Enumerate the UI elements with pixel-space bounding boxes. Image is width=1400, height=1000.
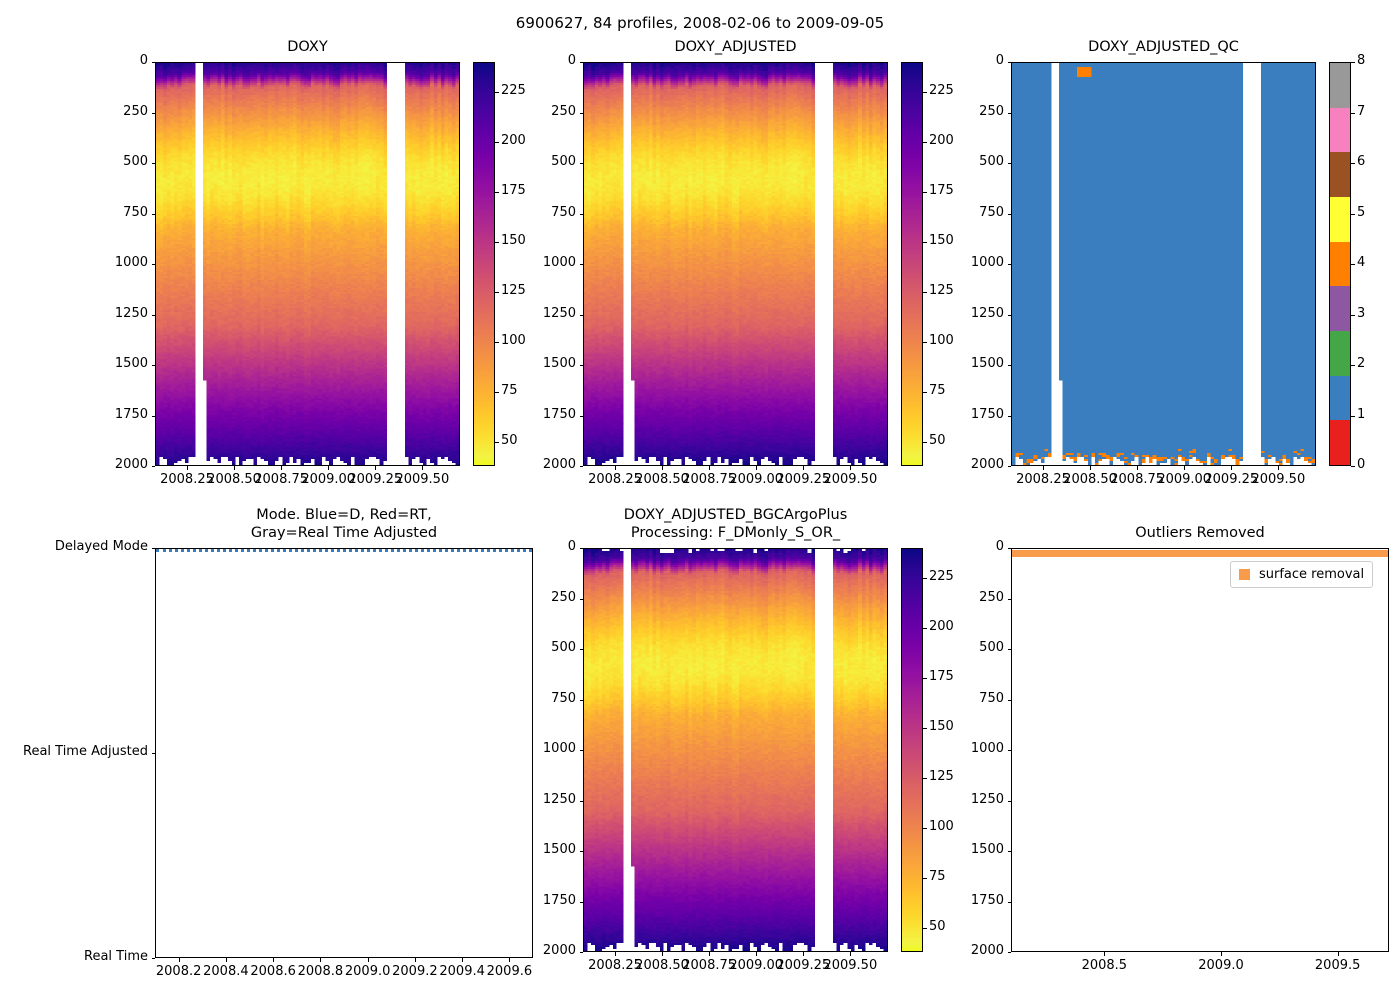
colorbar-doxy_adjusted-tick-label: 50 xyxy=(929,433,946,448)
ytick-doxy_adjusted-label: 750 xyxy=(433,205,576,220)
colorbar-doxy-tick-mark xyxy=(495,292,499,293)
ytick-mode-label: Delayed Mode xyxy=(5,539,148,554)
xtick-bgc-label: 2009.50 xyxy=(810,958,890,973)
figure-canvas: 6900627, 84 profiles, 2008-02-06 to 2009… xyxy=(0,0,1400,1000)
qc-colorbar-band-2 xyxy=(1330,331,1350,376)
ytick-bgc-mark xyxy=(580,649,584,650)
heatmap-doxy_adjusted_qc xyxy=(1012,63,1315,465)
qc-colorbar-band-0 xyxy=(1330,420,1350,465)
ytick-bgc-mark xyxy=(580,700,584,701)
xtick-mode-mark xyxy=(273,958,274,962)
colorbar-doxy-adjusted-bgcargoplus-tick-mark xyxy=(923,628,927,629)
colorbar-doxy-tick-mark xyxy=(495,242,499,243)
colorbar-doxy_adjusted_qc-tick-label: 2 xyxy=(1357,356,1365,371)
colorbar-doxy_adjusted-tick-label: 150 xyxy=(929,233,954,248)
ytick-bgc-mark xyxy=(580,750,584,751)
ytick-doxy_adjusted-label: 0 xyxy=(433,53,576,68)
xtick-doxy_adjusted-mark xyxy=(756,466,757,470)
xtick-outliers-mark xyxy=(1221,952,1222,956)
ytick-outliers-label: 750 xyxy=(861,691,1004,706)
colorbar-doxy-adjusted-bgcargoplus-tick-mark xyxy=(923,678,927,679)
ytick-outliers-label: 0 xyxy=(861,539,1004,554)
colorbar-doxy-adjusted-bgcargoplus-tick-label: 200 xyxy=(929,619,954,634)
axes-doxy-adjusted-bgcargoplus xyxy=(583,548,888,952)
colorbar-doxy-adjusted-bgcargoplus-tick-label: 175 xyxy=(929,669,954,684)
ytick-doxy_adjusted-label: 1750 xyxy=(433,407,576,422)
ytick-doxy_adjusted_qc-mark xyxy=(1008,365,1012,366)
colorbar-doxy_adjusted-tick-mark xyxy=(923,342,927,343)
colorbar-doxy-adjusted-bgcargoplus-tick-label: 225 xyxy=(929,569,954,584)
xtick-mode-label: 2009.6 xyxy=(469,964,549,979)
xtick-doxy_adjusted-mark xyxy=(615,466,616,470)
qc-colorbar-band-8 xyxy=(1330,63,1350,108)
mode-delayed-line xyxy=(156,549,532,552)
ytick-bgc-mark xyxy=(580,902,584,903)
xtick-doxy-mark xyxy=(234,466,235,470)
axes-outliers-removed xyxy=(1011,548,1389,952)
ytick-doxy-label: 1500 xyxy=(5,356,148,371)
xtick-doxy_adjusted_qc-mark xyxy=(1043,466,1044,470)
xtick-mode-mark xyxy=(320,958,321,962)
colorbar-doxy-adjusted-bgcargoplus-tick-mark xyxy=(923,778,927,779)
ytick-doxy_adjusted_qc-label: 0 xyxy=(861,53,1004,68)
colorbar-doxy-adjusted-bgcargoplus-tick-label: 50 xyxy=(929,919,946,934)
ytick-outliers-mark xyxy=(1008,902,1012,903)
xtick-mode-mark xyxy=(415,958,416,962)
colorbar-doxy_adjusted-tick-label: 100 xyxy=(929,333,954,348)
ytick-doxy_adjusted-mark xyxy=(580,163,584,164)
ytick-mode-label: Real Time xyxy=(5,949,148,964)
colorbar-doxy-tick-label: 200 xyxy=(501,133,526,148)
ytick-doxy-mark xyxy=(152,315,156,316)
xtick-bgc-mark xyxy=(803,952,804,956)
colorbar-doxy-tick-label: 175 xyxy=(501,183,526,198)
ytick-outliers-mark xyxy=(1008,952,1012,953)
ytick-doxy-label: 0 xyxy=(5,53,148,68)
ytick-doxy-mark xyxy=(152,264,156,265)
ytick-outliers-label: 500 xyxy=(861,640,1004,655)
ytick-outliers-label: 250 xyxy=(861,590,1004,605)
colorbar-doxy-tick-label: 100 xyxy=(501,333,526,348)
legend-outliers-removed[interactable]: surface removal xyxy=(1230,561,1373,588)
ytick-doxy_adjusted_qc-mark xyxy=(1008,163,1012,164)
xtick-bgc-mark xyxy=(662,952,663,956)
xtick-doxy_adjusted_qc-mark xyxy=(1278,466,1279,470)
xtick-doxy-label: 2009.50 xyxy=(382,472,462,487)
colorbar-doxy-tick-label: 75 xyxy=(501,383,518,398)
ytick-doxy_adjusted-mark xyxy=(580,365,584,366)
colorbar-doxy-tick-mark xyxy=(495,342,499,343)
ytick-outliers-mark xyxy=(1008,700,1012,701)
ytick-doxy_adjusted_qc-mark xyxy=(1008,113,1012,114)
ytick-doxy_adjusted_qc-label: 1000 xyxy=(861,255,1004,270)
ytick-doxy_adjusted-mark xyxy=(580,416,584,417)
colorbar-doxy_adjusted-tick-mark xyxy=(923,142,927,143)
ytick-outliers-mark xyxy=(1008,548,1012,549)
colorbar-doxy_adjusted_qc-tick-label: 7 xyxy=(1357,104,1365,119)
xtick-doxy_adjusted_qc-mark xyxy=(1137,466,1138,470)
xtick-doxy-mark xyxy=(281,466,282,470)
ytick-outliers-mark xyxy=(1008,649,1012,650)
ytick-doxy_adjusted-mark xyxy=(580,315,584,316)
colorbar-doxy-tick-label: 225 xyxy=(501,83,526,98)
axes-doxy_adjusted_qc xyxy=(1011,62,1316,466)
ytick-doxy_adjusted_qc-mark xyxy=(1008,315,1012,316)
colorbar-doxy_adjusted_qc-tick-mark xyxy=(1351,62,1355,63)
qc-colorbar-band-5 xyxy=(1330,197,1350,242)
colorbar-doxy_adjusted_qc-tick-mark xyxy=(1351,466,1355,467)
ytick-doxy-label: 1250 xyxy=(5,306,148,321)
colorbar-doxy-tick-mark xyxy=(495,142,499,143)
colorbar-doxy-tick-mark xyxy=(495,442,499,443)
colorbar-doxy_adjusted-tick-mark xyxy=(923,392,927,393)
ytick-mode-mark xyxy=(152,753,156,754)
xtick-doxy_adjusted_qc-mark xyxy=(1184,466,1185,470)
ytick-doxy_adjusted-label: 2000 xyxy=(433,457,576,472)
ytick-doxy-label: 1000 xyxy=(5,255,148,270)
title-outliers-removed: Outliers Removed xyxy=(960,524,1400,542)
colorbar-doxy_adjusted_qc-tick-label: 4 xyxy=(1357,255,1365,270)
figure-suptitle: 6900627, 84 profiles, 2008-02-06 to 2009… xyxy=(0,14,1400,32)
ytick-doxy-label: 250 xyxy=(5,104,148,119)
xtick-doxy-mark xyxy=(375,466,376,470)
ytick-doxy_adjusted-label: 1500 xyxy=(433,356,576,371)
legend-label-surface-removal: surface removal xyxy=(1259,567,1364,582)
colorbar-doxy-adjusted-bgcargoplus-tick-label: 150 xyxy=(929,719,954,734)
xtick-outliers-label: 2009.0 xyxy=(1181,958,1261,973)
ytick-doxy_adjusted_qc-label: 1250 xyxy=(861,306,1004,321)
xtick-mode-mark xyxy=(179,958,180,962)
colorbar-doxy_adjusted-tick-mark xyxy=(923,92,927,93)
colorbar-doxy-adjusted-bgcargoplus-tick-label: 100 xyxy=(929,819,954,834)
ytick-doxy_adjusted-label: 250 xyxy=(433,104,576,119)
axes-doxy xyxy=(155,62,460,466)
axes-doxy_adjusted xyxy=(583,62,888,466)
xtick-doxy-mark xyxy=(422,466,423,470)
ytick-doxy_adjusted_qc-label: 1500 xyxy=(861,356,1004,371)
colorbar-doxy-adjusted-bgcargoplus-tick-mark xyxy=(923,728,927,729)
colorbar-doxy-adjusted-bgcargoplus-tick-mark xyxy=(923,578,927,579)
colorbar-doxy_adjusted_qc-tick-label: 0 xyxy=(1357,457,1365,472)
colorbar-doxy-adjusted-bgcargoplus-tick-label: 75 xyxy=(929,869,946,884)
ytick-doxy-label: 500 xyxy=(5,154,148,169)
ytick-doxy_adjusted_qc-mark xyxy=(1008,264,1012,265)
ytick-outliers-label: 1250 xyxy=(861,792,1004,807)
ytick-doxy_adjusted_qc-label: 500 xyxy=(861,154,1004,169)
colorbar-doxy_adjusted_qc-tick-mark xyxy=(1351,264,1355,265)
xtick-doxy_adjusted_qc-mark xyxy=(1231,466,1232,470)
ytick-mode-label: Real Time Adjusted xyxy=(5,744,148,759)
colorbar-doxy_adjusted-tick-mark xyxy=(923,442,927,443)
colorbar-doxy_adjusted-tick-label: 75 xyxy=(929,383,946,398)
xtick-doxy-mark xyxy=(187,466,188,470)
xtick-doxy_adjusted-mark xyxy=(709,466,710,470)
xtick-doxy-mark xyxy=(328,466,329,470)
axes-mode xyxy=(155,548,533,958)
colorbar-doxy-tick-label: 125 xyxy=(501,283,526,298)
colorbar-doxy-tick-label: 50 xyxy=(501,433,518,448)
ytick-doxy_adjusted-label: 1000 xyxy=(433,255,576,270)
xtick-outliers-mark xyxy=(1104,952,1105,956)
ytick-doxy_adjusted-label: 500 xyxy=(433,154,576,169)
ytick-doxy-mark xyxy=(152,163,156,164)
colorbar-doxy_adjusted_qc-tick-label: 8 xyxy=(1357,53,1365,68)
xtick-mode-mark xyxy=(462,958,463,962)
ytick-doxy-mark xyxy=(152,416,156,417)
colorbar-doxy_adjusted_qc-tick-label: 5 xyxy=(1357,205,1365,220)
ytick-doxy-mark xyxy=(152,62,156,63)
heatmap-doxy_adjusted xyxy=(584,63,887,465)
qc-colorbar-band-1 xyxy=(1330,376,1350,421)
colorbar-doxy-adjusted-bgcargoplus-tick-mark xyxy=(923,928,927,929)
qc-colorbar-band-4 xyxy=(1330,242,1350,287)
surface-removal-band xyxy=(1012,550,1388,557)
colorbar-doxy-tick-mark xyxy=(495,92,499,93)
ytick-doxy_adjusted-mark xyxy=(580,264,584,265)
title-line-1: Mode. Blue=D, Red=RT, xyxy=(104,506,584,524)
colorbar-doxy_adjusted_qc-tick-label: 3 xyxy=(1357,306,1365,321)
ytick-outliers-mark xyxy=(1008,801,1012,802)
colorbar-doxy-tick-mark xyxy=(495,192,499,193)
colorbar-doxy_adjusted-tick-label: 125 xyxy=(929,283,954,298)
ytick-doxy_adjusted-mark xyxy=(580,113,584,114)
ytick-bgc-mark xyxy=(580,548,584,549)
ytick-doxy-label: 750 xyxy=(5,205,148,220)
colorbar-doxy_adjusted-tick-label: 225 xyxy=(929,83,954,98)
ytick-doxy-label: 1750 xyxy=(5,407,148,422)
xtick-outliers-label: 2008.5 xyxy=(1064,958,1144,973)
colorbar-doxy-adjusted-bgcargoplus-tick-mark xyxy=(923,878,927,879)
ytick-doxy-mark xyxy=(152,466,156,467)
xtick-mode-mark xyxy=(509,958,510,962)
legend-swatch-surface-removal xyxy=(1239,569,1250,580)
ytick-doxy_adjusted_qc-label: 2000 xyxy=(861,457,1004,472)
heatmap-doxy-adjusted-bgcargoplus xyxy=(584,549,887,951)
xtick-outliers-label: 2009.5 xyxy=(1298,958,1378,973)
xtick-mode-mark xyxy=(226,958,227,962)
ytick-outliers-mark xyxy=(1008,851,1012,852)
xtick-doxy_adjusted-mark xyxy=(803,466,804,470)
ytick-bgc-mark xyxy=(580,801,584,802)
ytick-doxy_adjusted_qc-label: 250 xyxy=(861,104,1004,119)
colorbar-doxy_adjusted-tick-mark xyxy=(923,292,927,293)
colorbar-doxy_adjusted_qc-tick-mark xyxy=(1351,113,1355,114)
title-line-2: Gray=Real Time Adjusted xyxy=(104,524,584,542)
ytick-mode-mark xyxy=(152,958,156,959)
colorbar-doxy-adjusted-bgcargoplus-tick-mark xyxy=(923,828,927,829)
qc-colorbar-band-7 xyxy=(1330,108,1350,153)
colorbar-doxy_adjusted_qc-tick-mark xyxy=(1351,214,1355,215)
qc-colorbar-band-6 xyxy=(1330,152,1350,197)
colorbar-doxy_adjusted_qc-tick-mark xyxy=(1351,315,1355,316)
ytick-outliers-label: 1750 xyxy=(861,893,1004,908)
xtick-outliers-mark xyxy=(1338,952,1339,956)
ytick-mode-mark xyxy=(152,548,156,549)
ytick-doxy_adjusted_qc-mark xyxy=(1008,214,1012,215)
colorbar-doxy_adjusted_qc-tick-label: 6 xyxy=(1357,154,1365,169)
ytick-doxy_adjusted_qc-mark xyxy=(1008,62,1012,63)
colorbar-doxy-tick-mark xyxy=(495,392,499,393)
colorbar-doxy_adjusted_qc[interactable] xyxy=(1329,62,1351,466)
colorbar-doxy_adjusted_qc-tick-mark xyxy=(1351,416,1355,417)
xtick-doxy_adjusted_qc-mark xyxy=(1090,466,1091,470)
xtick-doxy_adjusted-mark xyxy=(850,466,851,470)
ytick-outliers-mark xyxy=(1008,599,1012,600)
colorbar-doxy_adjusted-tick-label: 200 xyxy=(929,133,954,148)
ytick-outliers-mark xyxy=(1008,750,1012,751)
xtick-bgc-mark xyxy=(850,952,851,956)
ytick-doxy-mark xyxy=(152,113,156,114)
ytick-doxy_adjusted-mark xyxy=(580,214,584,215)
colorbar-doxy_adjusted_qc-tick-label: 1 xyxy=(1357,407,1365,422)
colorbar-doxy-adjusted-bgcargoplus-tick-label: 125 xyxy=(929,769,954,784)
ytick-outliers-label: 1500 xyxy=(861,842,1004,857)
ytick-doxy_adjusted-label: 1250 xyxy=(433,306,576,321)
colorbar-doxy_adjusted-tick-mark xyxy=(923,242,927,243)
colorbar-doxy_adjusted_qc-tick-mark xyxy=(1351,163,1355,164)
ytick-doxy_adjusted_qc-mark xyxy=(1008,416,1012,417)
ytick-bgc-mark xyxy=(580,599,584,600)
colorbar-doxy_adjusted_qc-tick-mark xyxy=(1351,365,1355,366)
ytick-outliers-label: 1000 xyxy=(861,741,1004,756)
colorbar-doxy_adjusted-tick-mark xyxy=(923,192,927,193)
ytick-bgc-mark xyxy=(580,952,584,953)
xtick-bgc-mark xyxy=(615,952,616,956)
ytick-doxy_adjusted-mark xyxy=(580,62,584,63)
ytick-doxy_adjusted_qc-label: 750 xyxy=(861,205,1004,220)
title-mode: Mode. Blue=D, Red=RT,Gray=Real Time Adju… xyxy=(104,506,584,542)
xtick-doxy_adjusted_qc-label: 2009.50 xyxy=(1238,472,1318,487)
ytick-doxy-mark xyxy=(152,365,156,366)
colorbar-doxy-tick-label: 150 xyxy=(501,233,526,248)
xtick-doxy_adjusted-mark xyxy=(662,466,663,470)
xtick-doxy_adjusted-label: 2009.50 xyxy=(810,472,890,487)
ytick-outliers-label: 2000 xyxy=(861,943,1004,958)
xtick-mode-mark xyxy=(368,958,369,962)
xtick-bgc-mark xyxy=(709,952,710,956)
ytick-doxy-mark xyxy=(152,214,156,215)
ytick-doxy-label: 2000 xyxy=(5,457,148,472)
ytick-doxy_adjusted_qc-mark xyxy=(1008,466,1012,467)
ytick-doxy_adjusted_qc-label: 1750 xyxy=(861,407,1004,422)
qc-colorbar-band-3 xyxy=(1330,286,1350,331)
ytick-bgc-mark xyxy=(580,851,584,852)
ytick-doxy_adjusted-mark xyxy=(580,466,584,467)
heatmap-doxy xyxy=(156,63,459,465)
xtick-bgc-mark xyxy=(756,952,757,956)
colorbar-doxy_adjusted-tick-label: 175 xyxy=(929,183,954,198)
